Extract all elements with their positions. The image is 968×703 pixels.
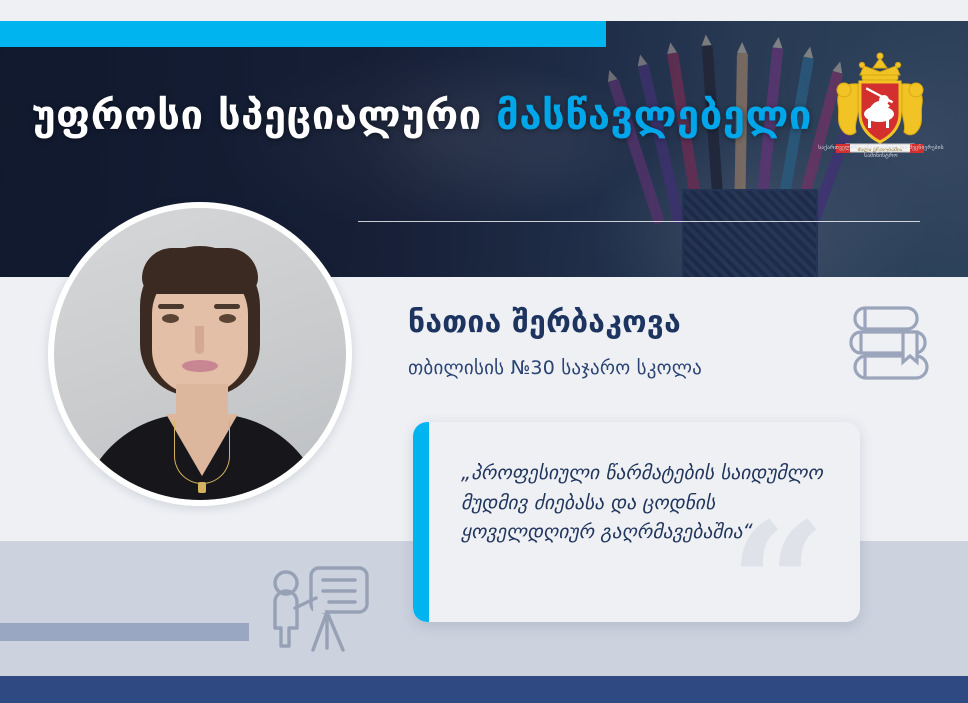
header-divider-line bbox=[358, 221, 920, 222]
person-name: ნათია შერბაკოვა bbox=[408, 306, 702, 341]
person-school: თბილისის №30 საჯარო სკოლა bbox=[408, 357, 702, 379]
pencil-holder-cup bbox=[682, 189, 818, 277]
ministry-caption: საქართველოს განათლებისა და მეცნიერების ს… bbox=[818, 144, 944, 160]
quote-accent-bar bbox=[413, 422, 429, 622]
books-stack-icon bbox=[845, 302, 937, 390]
page-title: უფროსი სპეციალური მასწავლებელი bbox=[32, 94, 812, 138]
title-primary-text: უფროსი სპეციალური bbox=[32, 93, 482, 139]
avatar bbox=[48, 202, 352, 506]
teacher-at-whiteboard-icon bbox=[267, 562, 373, 658]
footer-bar bbox=[0, 676, 968, 703]
quote-card: “ „პროფესიული წარმატების საიდუმლო მუდმივ… bbox=[413, 422, 860, 622]
title-accent-text: მასწავლებელი bbox=[496, 93, 812, 139]
teacher-spotlight-poster: უფროსი სპეციალური მასწავლებელი bbox=[0, 0, 968, 703]
quote-text: „პროფესიული წარმატების საიდუმლო მუდმივ ძ… bbox=[461, 458, 831, 547]
cyan-accent-bar bbox=[0, 21, 606, 47]
profile-name-block: ნათია შერბაკოვა თბილისის №30 საჯარო სკოლ… bbox=[408, 306, 702, 379]
decorative-horizontal-bar bbox=[0, 623, 249, 641]
